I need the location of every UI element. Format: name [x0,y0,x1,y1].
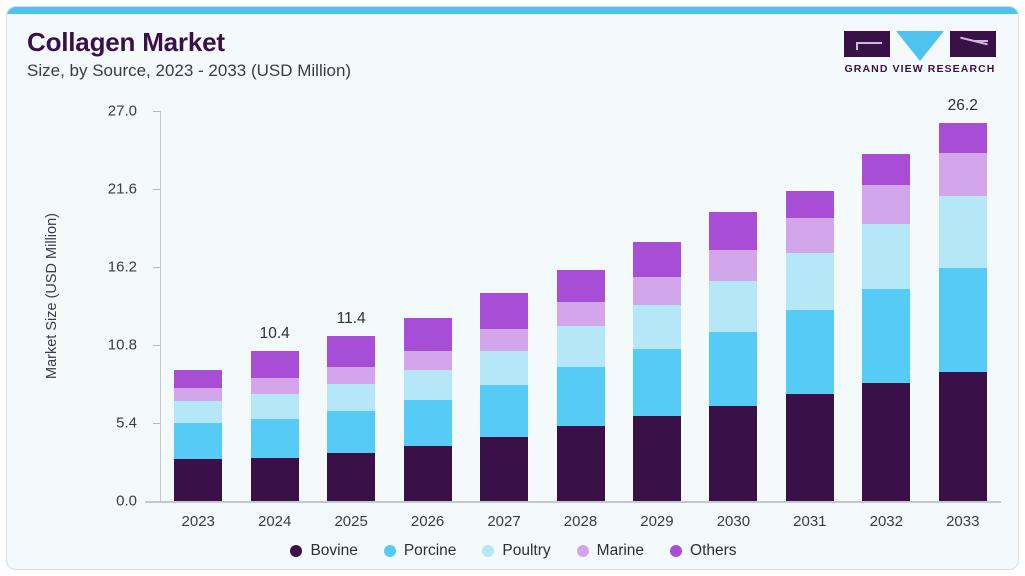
legend-label: Porcine [404,542,457,560]
bar-segment-bovine[interactable] [633,416,681,501]
bar-segment-others[interactable] [480,293,528,329]
bar-column[interactable] [557,103,605,501]
bar-stack[interactable] [786,191,834,502]
legend-item-others[interactable]: Others [670,542,737,560]
bar-column[interactable] [709,103,757,501]
bar-segment-marine[interactable] [174,388,222,401]
bar-segment-others[interactable] [404,318,452,351]
bar-segment-bovine[interactable] [327,453,375,501]
bar-segment-others[interactable] [633,242,681,277]
legend-swatch-icon [482,545,494,557]
bar-segment-porcine[interactable] [633,349,681,415]
x-axis-tick-label: 2031 [772,513,848,530]
x-axis-labels: 2023202420252026202720282029203020312032… [160,513,1001,537]
bar-segment-porcine[interactable] [786,310,834,394]
y-axis-labels: 0.05.410.816.221.627.0 [93,103,145,513]
bar-column[interactable]: 26.2 [939,103,987,501]
bar-segment-bovine[interactable] [862,383,910,501]
legend-item-marine[interactable]: Marine [577,542,644,560]
x-axis-tick-label: 2023 [160,513,236,530]
bar-stack[interactable] [251,351,299,501]
bar-segment-bovine[interactable] [251,458,299,501]
x-axis-tick-label: 2029 [619,513,695,530]
bar-column[interactable] [786,103,834,501]
y-axis-tick [153,189,160,190]
bar-segment-poultry[interactable] [862,224,910,289]
bar-segment-poultry[interactable] [709,281,757,332]
bar-stack[interactable] [327,336,375,501]
bar-segment-marine[interactable] [327,367,375,384]
y-axis-tick [153,345,160,346]
bar-segment-poultry[interactable] [557,326,605,366]
bar-segment-porcine[interactable] [174,423,222,459]
bar-segment-marine[interactable] [557,302,605,327]
bar-segment-marine[interactable] [862,185,910,224]
chart-legend: BovinePorcinePoultryMarineOthers [7,542,1019,560]
bar-stack[interactable] [480,293,528,501]
x-axis-tick-label: 2026 [389,513,465,530]
bar-segment-poultry[interactable] [251,394,299,419]
bar-value-label: 11.4 [337,310,366,328]
bar-segment-poultry[interactable] [327,384,375,411]
logo-text: GRAND VIEW RESEARCH [844,63,996,75]
bar-column[interactable] [633,103,681,501]
logo-v-icon [896,31,944,61]
y-axis-tick [153,267,160,268]
y-axis-tick-label: 10.8 [108,337,137,354]
legend-label: Bovine [310,542,357,560]
bar-segment-marine[interactable] [404,351,452,370]
bar-segment-bovine[interactable] [709,406,757,501]
bar-segment-marine[interactable] [480,329,528,351]
bar-segment-porcine[interactable] [404,400,452,446]
bar-group: 10.411.426.2 [160,103,1001,501]
bar-segment-porcine[interactable] [939,268,987,372]
bar-column[interactable] [404,103,452,501]
bar-segment-porcine[interactable] [709,332,757,406]
bar-segment-poultry[interactable] [786,253,834,311]
bar-segment-others[interactable] [251,351,299,378]
bar-column[interactable] [480,103,528,501]
legend-label: Marine [597,542,644,560]
bar-segment-poultry[interactable] [174,401,222,423]
bar-value-label: 26.2 [948,97,978,115]
y-axis-tick-label: 21.6 [108,181,137,198]
bar-segment-others[interactable] [557,270,605,302]
bar-segment-marine[interactable] [709,250,757,282]
legend-swatch-icon [290,545,302,557]
bar-segment-bovine[interactable] [786,394,834,501]
x-axis-tick-label: 2030 [695,513,771,530]
bar-segment-marine[interactable] [633,277,681,304]
y-axis-tick [153,423,160,424]
bar-stack[interactable] [939,123,987,501]
bar-stack[interactable] [633,242,681,501]
x-axis-tick-label: 2025 [313,513,389,530]
bar-stack[interactable] [174,370,222,501]
bar-segment-porcine[interactable] [862,289,910,383]
bar-column[interactable]: 11.4 [327,103,375,501]
brand-logo: GRAND VIEW RESEARCH [844,31,996,75]
x-axis-tick-label: 2027 [466,513,542,530]
x-axis-tick-label: 2024 [236,513,312,530]
bar-segment-others[interactable] [786,191,834,218]
legend-label: Others [690,542,737,560]
legend-swatch-icon [577,545,589,557]
bar-segment-porcine[interactable] [327,411,375,453]
y-axis-tick-label: 27.0 [108,103,137,120]
y-axis-tick-label: 0.0 [116,493,137,510]
bar-segment-marine[interactable] [251,378,299,394]
bar-segment-porcine[interactable] [557,367,605,426]
logo-r-icon [950,31,996,57]
bar-stack[interactable] [862,154,910,501]
bar-segment-others[interactable] [327,336,375,366]
top-accent-bar [7,7,1018,14]
logo-g-icon [844,31,890,57]
legend-item-poultry[interactable]: Poultry [482,542,550,560]
bar-segment-others[interactable] [174,370,222,389]
bar-segment-bovine[interactable] [404,446,452,501]
bar-segment-porcine[interactable] [480,385,528,437]
bar-segment-bovine[interactable] [939,372,987,501]
bar-segment-bovine[interactable] [557,426,605,501]
bar-segment-others[interactable] [862,154,910,184]
plot-area: Market Size (USD Million) 0.05.410.816.2… [7,103,1019,513]
x-axis-line [145,501,1001,503]
y-axis-tick [153,111,160,112]
y-axis-tick-label: 5.4 [116,415,137,432]
bar-stack[interactable] [404,318,452,501]
bar-column[interactable] [174,103,222,501]
bar-segment-poultry[interactable] [480,351,528,386]
legend-item-bovine[interactable]: Bovine [290,542,357,560]
chart-card: Collagen Market Size, by Source, 2023 - … [6,6,1019,570]
bar-stack[interactable] [709,212,757,501]
bar-segment-others[interactable] [709,212,757,250]
bar-segment-marine[interactable] [786,218,834,253]
legend-swatch-icon [670,545,682,557]
legend-label: Poultry [502,542,550,560]
y-axis-title: Market Size (USD Million) [44,156,60,436]
bar-value-label: 10.4 [260,325,290,343]
x-axis-tick-label: 2033 [925,513,1001,530]
bar-column[interactable]: 10.4 [251,103,299,501]
bar-segment-poultry[interactable] [939,196,987,268]
bar-column[interactable] [862,103,910,501]
bar-segment-marine[interactable] [939,153,987,196]
x-axis-tick-label: 2028 [542,513,618,530]
legend-item-porcine[interactable]: Porcine [384,542,457,560]
bar-segment-bovine[interactable] [480,437,528,501]
bar-segment-poultry[interactable] [404,370,452,400]
y-axis-tick-label: 16.2 [108,259,137,276]
bar-segment-porcine[interactable] [251,419,299,458]
x-axis-tick-label: 2032 [848,513,924,530]
bar-segment-bovine[interactable] [174,459,222,501]
legend-swatch-icon [384,545,396,557]
bar-segment-others[interactable] [939,123,987,153]
bar-stack[interactable] [557,270,605,501]
logo-marks [844,31,996,57]
bar-segment-poultry[interactable] [633,305,681,350]
